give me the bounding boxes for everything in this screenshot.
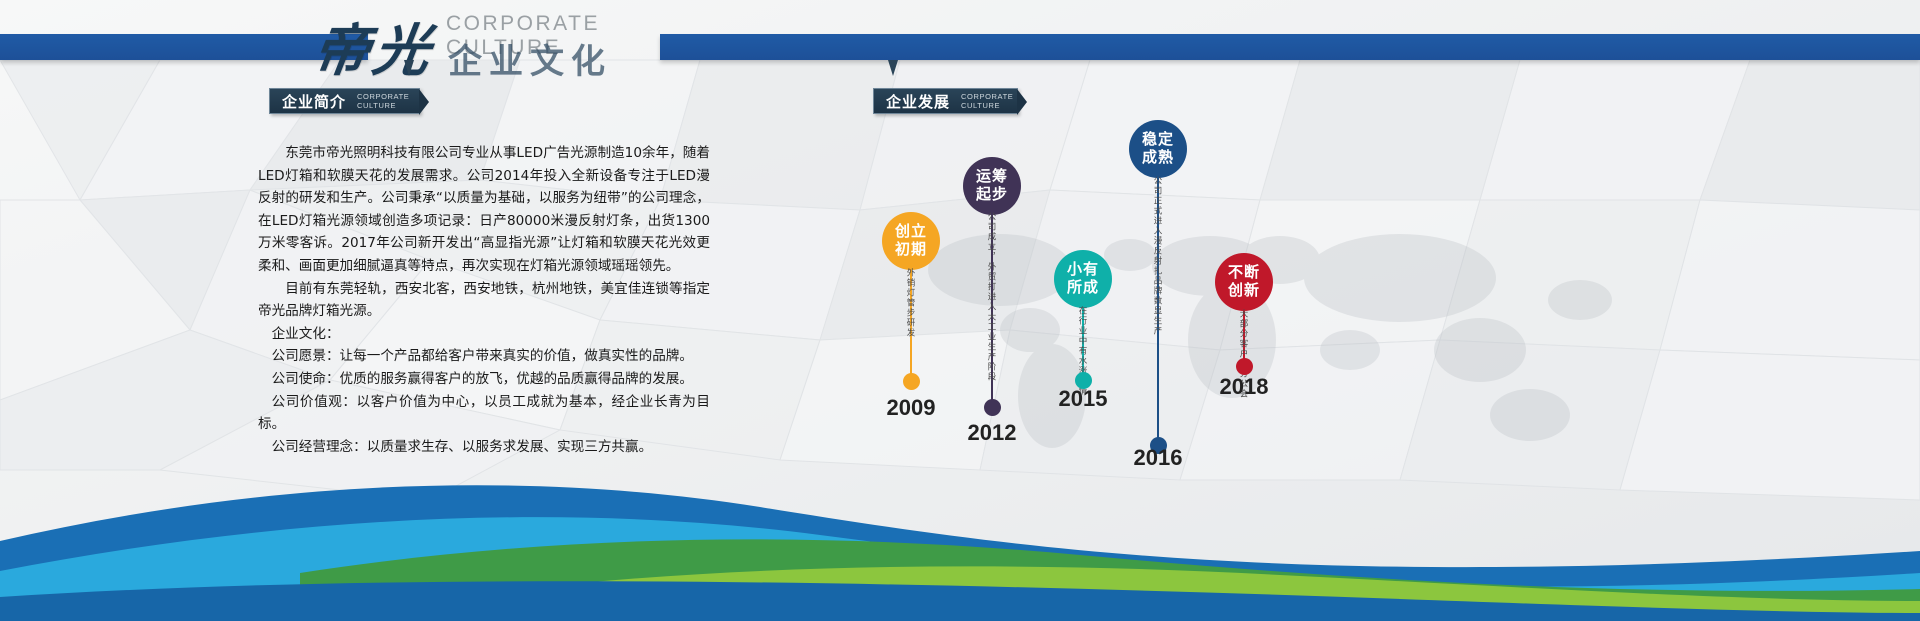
- timeline-year-2009: 2009: [887, 395, 936, 421]
- timeline-bubble-2009[interactable]: 创立初期: [882, 212, 940, 270]
- timeline-description-2012: 公司成立，外贸打进入大工业生产阶段: [986, 212, 998, 392]
- poster-canvas: 帝光 CORPORATE CULTURE 企业文化 企业简介 CORPORATE…: [0, 0, 1920, 621]
- intro-paragraph-2: 目前有东莞轻轨，西安北客，西安地铁，杭州地铁，美宜佳连锁等指定帝光品牌灯箱光源。: [258, 278, 710, 323]
- header-band-right: [660, 34, 1920, 60]
- timeline-bubble-line1: 小有: [1067, 261, 1099, 279]
- section-label-intro-cn: 企业简介: [282, 91, 346, 112]
- intro-paragraph-4: 公司愿景：让每一个产品都给客户带来真实的价值，做真实性的品牌。: [258, 345, 710, 368]
- timeline-dot-2018[interactable]: [1236, 358, 1253, 375]
- timeline-bubble-line1: 不断: [1228, 264, 1260, 282]
- plate-flag-intro: [419, 89, 429, 115]
- section-label-intro: 企业简介 CORPORATE CULTURE: [269, 88, 420, 114]
- company-intro-text: 东莞市帝光照明科技有限公司专业从事LED广告光源制造10余年，随着LED灯箱和软…: [258, 142, 710, 458]
- timeline-dot-2009[interactable]: [903, 373, 920, 390]
- intro-paragraph-5: 公司使命：优质的服务赢得客户的放飞，优越的品质赢得品牌的发展。: [258, 368, 710, 391]
- timeline-bubble-line2: 成熟: [1142, 149, 1174, 167]
- timeline-description-2015: 在行业中有水涨行情: [1077, 306, 1089, 368]
- timeline-dot-2012[interactable]: [984, 399, 1001, 416]
- timeline-bubble-line1: 创立: [895, 223, 927, 241]
- intro-paragraph-3: 企业文化：: [258, 323, 710, 346]
- intro-paragraph-1: 东莞市帝光照明科技有限公司专业从事LED广告光源制造10余年，随着LED灯箱和软…: [258, 142, 710, 278]
- timeline-bubble-line2: 起步: [976, 186, 1008, 204]
- timeline-year-2015: 2015: [1059, 386, 1108, 412]
- timeline-description-2018: 大部分客户有分公会: [1238, 309, 1250, 353]
- decorative-waves: [0, 421, 1920, 621]
- section-label-intro-en: CORPORATE CULTURE: [357, 92, 409, 110]
- timeline-bubble-line1: 稳定: [1142, 131, 1174, 149]
- brand-name-cn: 帝光: [308, 6, 439, 87]
- title-block: 帝光 CORPORATE CULTURE 企业文化: [300, 0, 670, 80]
- timeline-year-2018: 2018: [1220, 374, 1269, 400]
- timeline-description-2016: 公司正式进入漫反射扎品牌数显生产: [1152, 176, 1164, 430]
- timeline-bubble-line2: 所成: [1067, 279, 1099, 297]
- timeline-bubble-line1: 运筹: [976, 168, 1008, 186]
- timeline-bubble-line2: 初期: [895, 241, 927, 259]
- timeline-bubble-2012[interactable]: 运筹起步: [963, 157, 1021, 215]
- timeline-bubble-line2: 创新: [1228, 282, 1260, 300]
- brand-subtitle-cn: 企业文化: [448, 34, 612, 83]
- timeline-bubble-2015[interactable]: 小有所成: [1054, 250, 1112, 308]
- timeline-description-2009: 外销灯管步研发: [905, 268, 917, 364]
- timeline-bubble-2018[interactable]: 不断创新: [1215, 253, 1273, 311]
- timeline-bubble-2016[interactable]: 稳定成熟: [1129, 120, 1187, 178]
